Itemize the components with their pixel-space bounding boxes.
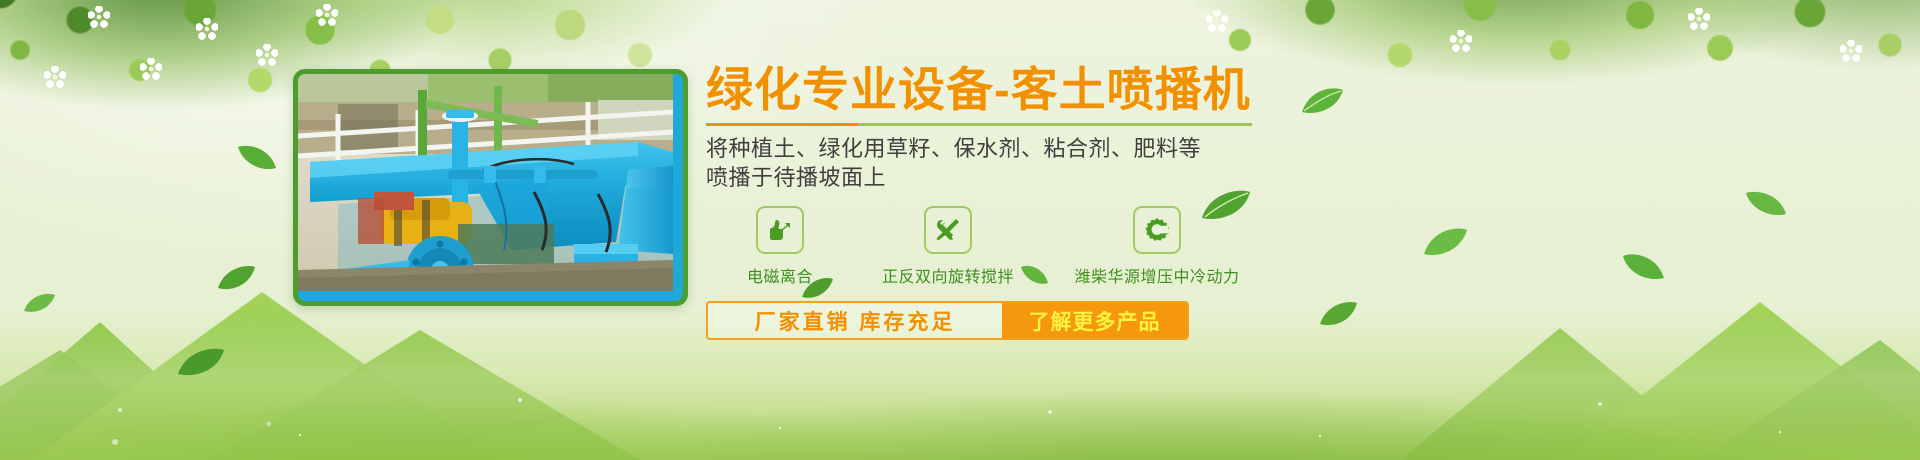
feature-list: 电磁离合 正反双向旋转搅拌 <box>706 206 1406 287</box>
feature-item-electromagnetic-clutch: 电磁离合 <box>706 206 854 287</box>
grass-sparkle-decoration <box>0 340 1920 460</box>
flower-icon <box>316 4 338 26</box>
title-divider <box>706 123 1252 126</box>
gear-icon <box>1133 206 1181 254</box>
leaf-icon <box>1620 252 1666 282</box>
learn-more-button[interactable]: 了解更多产品 <box>1002 303 1187 338</box>
wrench-screwdriver-icon <box>924 206 972 254</box>
flower-icon <box>140 58 162 80</box>
cta-bar: 厂家直销 库存充足 了解更多产品 <box>706 301 1189 340</box>
banner-subtitle-line-2: 喷播于待播坡面上 <box>706 163 1406 192</box>
leaf-icon <box>216 264 256 292</box>
leaf-icon <box>236 144 278 172</box>
feature-label: 正反双向旋转搅拌 <box>882 263 1014 287</box>
flower-icon <box>256 44 278 66</box>
flower-icon <box>1450 30 1472 52</box>
flower-icon <box>1688 8 1710 30</box>
feature-label: 潍柴华源增压中冷动力 <box>1074 263 1239 287</box>
product-photo-frame <box>293 69 688 306</box>
product-photo <box>298 74 683 301</box>
leaf-icon <box>1422 226 1468 258</box>
flower-icon <box>88 6 110 28</box>
feature-item-weichai-power: 潍柴华源增压中冷动力 <box>1042 206 1272 287</box>
flower-icon <box>1840 40 1862 62</box>
leaf-icon <box>22 292 56 314</box>
leaf-icon <box>1744 190 1788 218</box>
flower-icon <box>196 18 218 40</box>
banner-subtitle-line-1: 将种植土、绿化用草籽、保水剂、粘合剂、肥料等 <box>706 134 1406 163</box>
hydroseeder-machine-image <box>298 74 673 291</box>
promo-banner: 绿化专业设备-客土喷播机 将种植土、绿化用草籽、保水剂、粘合剂、肥料等 喷播于待… <box>0 0 1920 460</box>
flower-icon <box>44 66 66 88</box>
cta-slogan: 厂家直销 库存充足 <box>708 303 1002 338</box>
banner-title: 绿化专业设备-客土喷播机 <box>706 66 1406 114</box>
feature-label: 电磁离合 <box>747 263 813 287</box>
thumbs-up-icon <box>756 206 804 254</box>
feature-item-bidirectional-mixing: 正反双向旋转搅拌 <box>854 206 1042 287</box>
banner-content: 绿化专业设备-客土喷播机 将种植土、绿化用草籽、保水剂、粘合剂、肥料等 喷播于待… <box>706 66 1406 340</box>
flower-icon <box>1206 10 1228 32</box>
